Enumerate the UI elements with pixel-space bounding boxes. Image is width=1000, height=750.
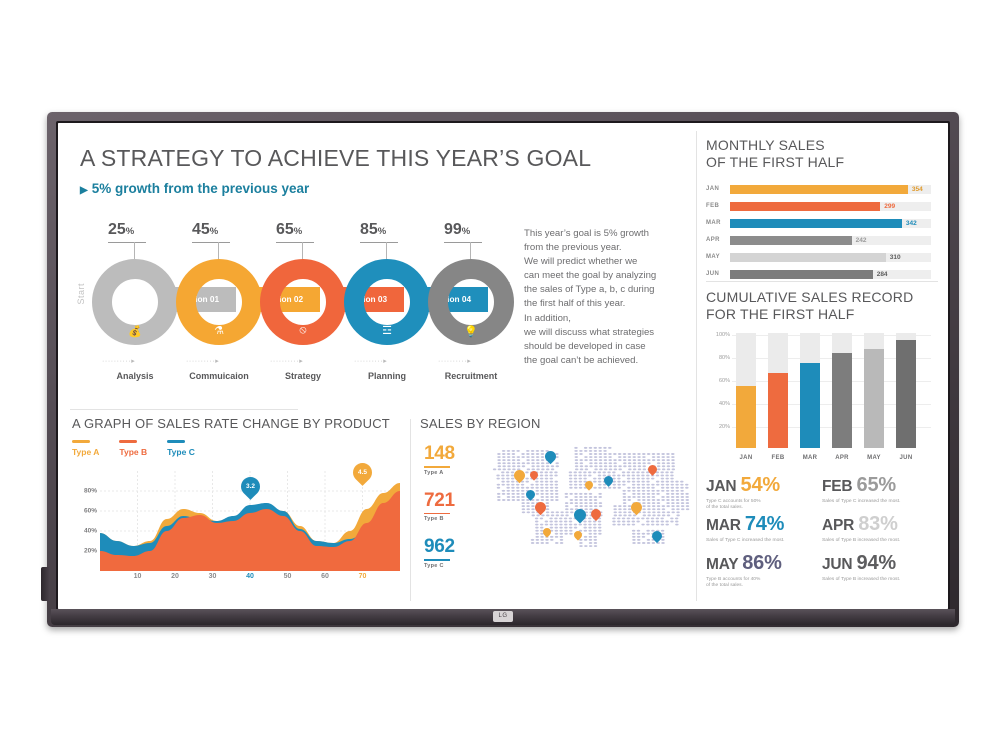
monthly-bar-fill xyxy=(730,185,908,194)
cumulative-column-label: MAY xyxy=(864,455,884,461)
monthly-bar-track: 284 xyxy=(730,270,931,279)
monthly-bar-fill xyxy=(730,219,902,228)
chain-icon-money: 💰 xyxy=(125,325,145,338)
summary-stat: FEB 65%Sales of Type C increased the mos… xyxy=(822,474,930,505)
intro-line: the first half of this year. xyxy=(524,297,684,311)
region-total-type: Type C xyxy=(424,563,480,569)
step-rule-1 xyxy=(108,242,146,243)
sales-rate-plot: 80%60%40%20%3.24.5 xyxy=(100,471,402,571)
sales-rate-panel: A GRAPH OF SALES RATE CHANGE BY PRODUCT … xyxy=(72,415,402,585)
region-total-value: 148 xyxy=(424,443,480,465)
legend-swatch xyxy=(72,440,90,443)
divider-vertical-mid xyxy=(410,419,411,601)
monthly-bar-fill xyxy=(730,236,852,245)
cumulative-column-label: JUN xyxy=(896,455,916,461)
summary-stat-percent: 94% xyxy=(857,552,896,574)
step-rule-3 xyxy=(276,242,314,243)
monthly-bar-label: FEB xyxy=(706,203,719,209)
screen-content: A STRATEGY TO ACHIEVE THIS YEAR’S GOAL ▶… xyxy=(58,123,948,609)
intro-line: We will predict whether we xyxy=(524,255,684,269)
legend-item[interactable]: Type A xyxy=(72,440,99,457)
sales-rate-legend: Type AType BType C xyxy=(72,440,402,457)
monthly-bar-value: 354 xyxy=(912,186,923,193)
divider-vertical-right xyxy=(696,131,697,601)
cumulative-sales-panel: CUMULATIVE SALES RECORD FOR THE FIRST HA… xyxy=(706,289,931,592)
legend-swatch xyxy=(119,440,137,443)
region-total-value: 721 xyxy=(424,490,480,512)
cumulative-column-fill xyxy=(896,340,916,448)
cumulative-column-fill xyxy=(736,386,756,448)
bullet-triangle-icon: ▶ xyxy=(80,185,88,196)
monthly-bar-label: JAN xyxy=(706,186,719,192)
intro-line: In addition, xyxy=(524,312,684,326)
monthly-bar-fill xyxy=(730,270,873,279)
summary-stat-caption: Sales of Type C increased the most. xyxy=(822,499,930,505)
intro-paragraph: This year’s goal is 5% growth from the p… xyxy=(524,227,684,368)
monthly-bar-value: 299 xyxy=(884,203,895,210)
intro-line: This year’s goal is 5% growth xyxy=(524,227,684,241)
divider-horizontal-left xyxy=(70,409,298,410)
region-total-rule xyxy=(424,466,450,468)
area-x-tick: 70 xyxy=(359,573,367,580)
cumulative-y-tick: 60% xyxy=(706,378,730,384)
legend-label: Type A xyxy=(72,447,99,457)
legend-label: Type C xyxy=(167,447,195,457)
legend-item[interactable]: Type B xyxy=(119,440,147,457)
cumulative-column: APR xyxy=(832,333,852,448)
region-total-item: 962Type C xyxy=(424,536,480,569)
summary-stat-percent: 86% xyxy=(742,552,781,574)
cumulative-column-label: JAN xyxy=(736,455,756,461)
monthly-bar-label: MAY xyxy=(706,254,720,260)
monitor-chin: LG xyxy=(51,609,955,625)
step-label-3: Strategy xyxy=(260,371,346,381)
region-total-item: 148Type A xyxy=(424,443,480,476)
step-percent-3: 65% xyxy=(276,221,302,239)
page-title: A STRATEGY TO ACHIEVE THIS YEAR’S GOAL xyxy=(80,145,591,172)
region-total-rule xyxy=(424,513,450,515)
step-arrow-5: ··········▸ xyxy=(438,357,471,365)
step-label-2: Commuicaion xyxy=(172,371,266,381)
chain-icon-bulb: 💡 xyxy=(461,325,481,338)
monthly-sales-bar-chart: JAN354FEB299MAR342APR242MAY310JUN284 xyxy=(706,183,931,282)
region-total-type: Type A xyxy=(424,470,480,476)
chain-icon-database: ☲ xyxy=(377,324,397,337)
cumulative-y-tick: 40% xyxy=(706,401,730,407)
summary-stat-percent: 74% xyxy=(745,513,784,535)
step-percent-1: 25% xyxy=(108,221,134,239)
cumulative-y-tick: 20% xyxy=(706,424,730,430)
cumulative-column: MAR xyxy=(800,333,820,448)
legend-item[interactable]: Type C xyxy=(167,440,195,457)
step-arrow-4: ··········▸ xyxy=(354,357,387,365)
sales-by-region-panel: SALES BY REGION 148Type A721Type B962Typ… xyxy=(420,415,695,432)
cumulative-y-tick: 80% xyxy=(706,355,730,361)
summary-stat: JAN 54%Type C accounts for 50%of the tot… xyxy=(706,474,814,512)
monthly-bar-label: APR xyxy=(706,237,720,243)
lg-logo: LG xyxy=(493,611,513,622)
area-y-tick: 80% xyxy=(84,488,97,495)
step-label-5: Recruitment xyxy=(428,371,514,381)
summary-stat-caption: Type C accounts for 50%of the total sale… xyxy=(706,499,814,512)
intro-line: from the previous year. xyxy=(524,241,684,255)
monthly-sales-title-line2: OF THE FIRST HALF xyxy=(706,154,931,171)
page-subtitle: ▶5% growth from the previous year xyxy=(80,181,309,196)
summary-stat-percent: 54% xyxy=(741,474,780,496)
area-y-tick: 40% xyxy=(84,528,97,535)
cumulative-column: FEB xyxy=(768,333,788,448)
summary-stat-caption: Sales of Type B increased the most. xyxy=(822,577,930,583)
cumulative-column-label: APR xyxy=(832,455,852,461)
summary-stat-headline: JAN 54% xyxy=(706,474,814,497)
chain-icon-target: ⦸ xyxy=(293,324,313,337)
legend-label: Type B xyxy=(119,447,147,457)
intro-line: we will discuss what strategies xyxy=(524,326,684,340)
cumulative-column-fill xyxy=(832,353,852,448)
step-rule-2 xyxy=(192,242,230,243)
cumulative-title-line1: CUMULATIVE SALES RECORD xyxy=(706,289,931,306)
region-total-type: Type B xyxy=(424,516,480,522)
step-arrow-3: ··········▸ xyxy=(270,357,303,365)
monthly-bar-row: JUN284 xyxy=(706,268,931,282)
summary-stat-caption: Sales of Type B increased the most. xyxy=(822,538,930,544)
region-total-rule xyxy=(424,559,450,561)
sales-rate-x-axis: 10203040506070 xyxy=(100,573,402,585)
monthly-bar-label: JUN xyxy=(706,271,719,277)
step-label-1: Analysis xyxy=(92,371,178,381)
cumulative-title-line2: FOR THE FIRST HALF xyxy=(706,306,931,323)
intro-line: can meet the goal by analyzing xyxy=(524,269,684,283)
monthly-bar-track: 242 xyxy=(730,236,931,245)
area-x-tick: 50 xyxy=(284,573,292,580)
summary-stat-headline: MAY 86% xyxy=(706,552,814,575)
area-y-tick: 60% xyxy=(84,508,97,515)
cumulative-column-label: FEB xyxy=(768,455,788,461)
monitor-side-port xyxy=(41,567,50,601)
sales-rate-title: A GRAPH OF SALES RATE CHANGE BY PRODUCT xyxy=(72,415,402,432)
region-title: SALES BY REGION xyxy=(420,415,695,432)
monthly-bar-track: 310 xyxy=(730,253,931,262)
monthly-bar-fill xyxy=(730,253,886,262)
chain-start-label: Start xyxy=(76,283,86,305)
area-annotation-label: 4.5 xyxy=(358,469,367,476)
chain-icon-flask: ⚗ xyxy=(209,324,229,337)
monthly-bar-value: 310 xyxy=(890,254,901,261)
summary-stat: APR 83%Sales of Type B increased the mos… xyxy=(822,513,930,544)
step-arrow-1: ··········▸ xyxy=(102,357,135,365)
cumulative-column-fill xyxy=(768,373,788,448)
area-annotation-label: 3.2 xyxy=(245,483,254,490)
monthly-bar-value: 342 xyxy=(906,220,917,227)
intro-line: the goal can’t be achieved. xyxy=(524,354,684,368)
cumulative-column-chart: 100%80%60%40%20%JANFEBMARAPRMAYJUN xyxy=(706,333,931,448)
region-total-value: 962 xyxy=(424,536,480,558)
process-chain-diagram: Start Finish 25% 💰 Analysis ··········▸ … xyxy=(72,221,512,381)
monthly-bar-row: FEB299 xyxy=(706,200,931,214)
display-monitor: LG A STRATEGY TO ACHIEVE THIS YEAR’S GOA… xyxy=(47,112,959,627)
step-percent-4: 85% xyxy=(360,221,386,239)
region-total-item: 721Type B xyxy=(424,490,480,523)
monthly-bar-row: MAY310 xyxy=(706,251,931,265)
step-rule-4 xyxy=(360,242,398,243)
cumulative-column: JAN xyxy=(736,333,756,448)
region-totals-list: 148Type A721Type B962Type C xyxy=(424,443,480,583)
monthly-bar-track: 299 xyxy=(730,202,931,211)
monthly-bar-fill xyxy=(730,202,880,211)
intro-line: should be developed in case xyxy=(524,340,684,354)
area-x-tick: 10 xyxy=(134,573,142,580)
summary-stat-caption: Sales of Type C increased the most. xyxy=(706,538,814,544)
step-percent-2: 45% xyxy=(192,221,218,239)
step-percent-5: 99% xyxy=(444,221,470,239)
monthly-bar-row: MAR342 xyxy=(706,217,931,231)
summary-stat: JUN 94%Sales of Type B increased the mos… xyxy=(822,552,930,583)
cumulative-sales-title: CUMULATIVE SALES RECORD FOR THE FIRST HA… xyxy=(706,289,931,323)
monthly-bar-track: 342 xyxy=(730,219,931,228)
cumulative-y-tick: 100% xyxy=(706,332,730,338)
summary-stat-headline: APR 83% xyxy=(822,513,930,536)
monthly-bar-value: 242 xyxy=(856,237,867,244)
cumulative-column-fill xyxy=(864,349,884,448)
area-y-tick: 20% xyxy=(84,548,97,555)
monthly-bar-label: MAR xyxy=(706,220,721,226)
page-subtitle-text: 5% growth from the previous year xyxy=(92,181,310,196)
presentation-slide: A STRATEGY TO ACHIEVE THIS YEAR’S GOAL ▶… xyxy=(58,123,948,609)
step-label-4: Planning xyxy=(344,371,430,381)
monthly-sales-title-line1: MONTHLY SALES xyxy=(706,137,931,154)
summary-stat-headline: MAR 74% xyxy=(706,513,814,536)
step-arrow-2: ··········▸ xyxy=(186,357,219,365)
summary-stat-headline: FEB 65% xyxy=(822,474,930,497)
summary-stat: MAR 74%Sales of Type C increased the mos… xyxy=(706,513,814,544)
area-x-tick: 20 xyxy=(171,573,179,580)
area-x-tick: 40 xyxy=(246,573,254,580)
cumulative-column-label: MAR xyxy=(800,455,820,461)
area-x-tick: 60 xyxy=(321,573,329,580)
summary-stat-headline: JUN 94% xyxy=(822,552,930,575)
legend-swatch xyxy=(167,440,185,443)
monthly-sales-title: MONTHLY SALES OF THE FIRST HALF xyxy=(706,137,931,171)
world-map xyxy=(482,437,692,555)
cumulative-column-fill xyxy=(800,363,820,448)
summary-stat: MAY 86%Type B accounts for 40%of the tot… xyxy=(706,552,814,590)
summary-stats-grid: JAN 54%Type C accounts for 50%of the tot… xyxy=(706,474,931,592)
cumulative-column: MAY xyxy=(864,333,884,448)
monthly-bar-row: APR242 xyxy=(706,234,931,248)
summary-stat-caption: Type B accounts for 40%of the total sale… xyxy=(706,577,814,590)
monthly-bar-track: 354 xyxy=(730,185,931,194)
summary-stat-percent: 83% xyxy=(858,513,897,535)
step-rule-5 xyxy=(444,242,482,243)
area-x-tick: 30 xyxy=(209,573,217,580)
monthly-sales-panel: MONTHLY SALES OF THE FIRST HALF JAN354FE… xyxy=(706,137,931,282)
summary-stat-percent: 65% xyxy=(857,474,896,496)
intro-line: the sales of Type a, b, c during xyxy=(524,283,684,297)
monthly-bar-value: 284 xyxy=(877,271,888,278)
cumulative-column: JUN xyxy=(896,333,916,448)
monthly-bar-row: JAN354 xyxy=(706,183,931,197)
